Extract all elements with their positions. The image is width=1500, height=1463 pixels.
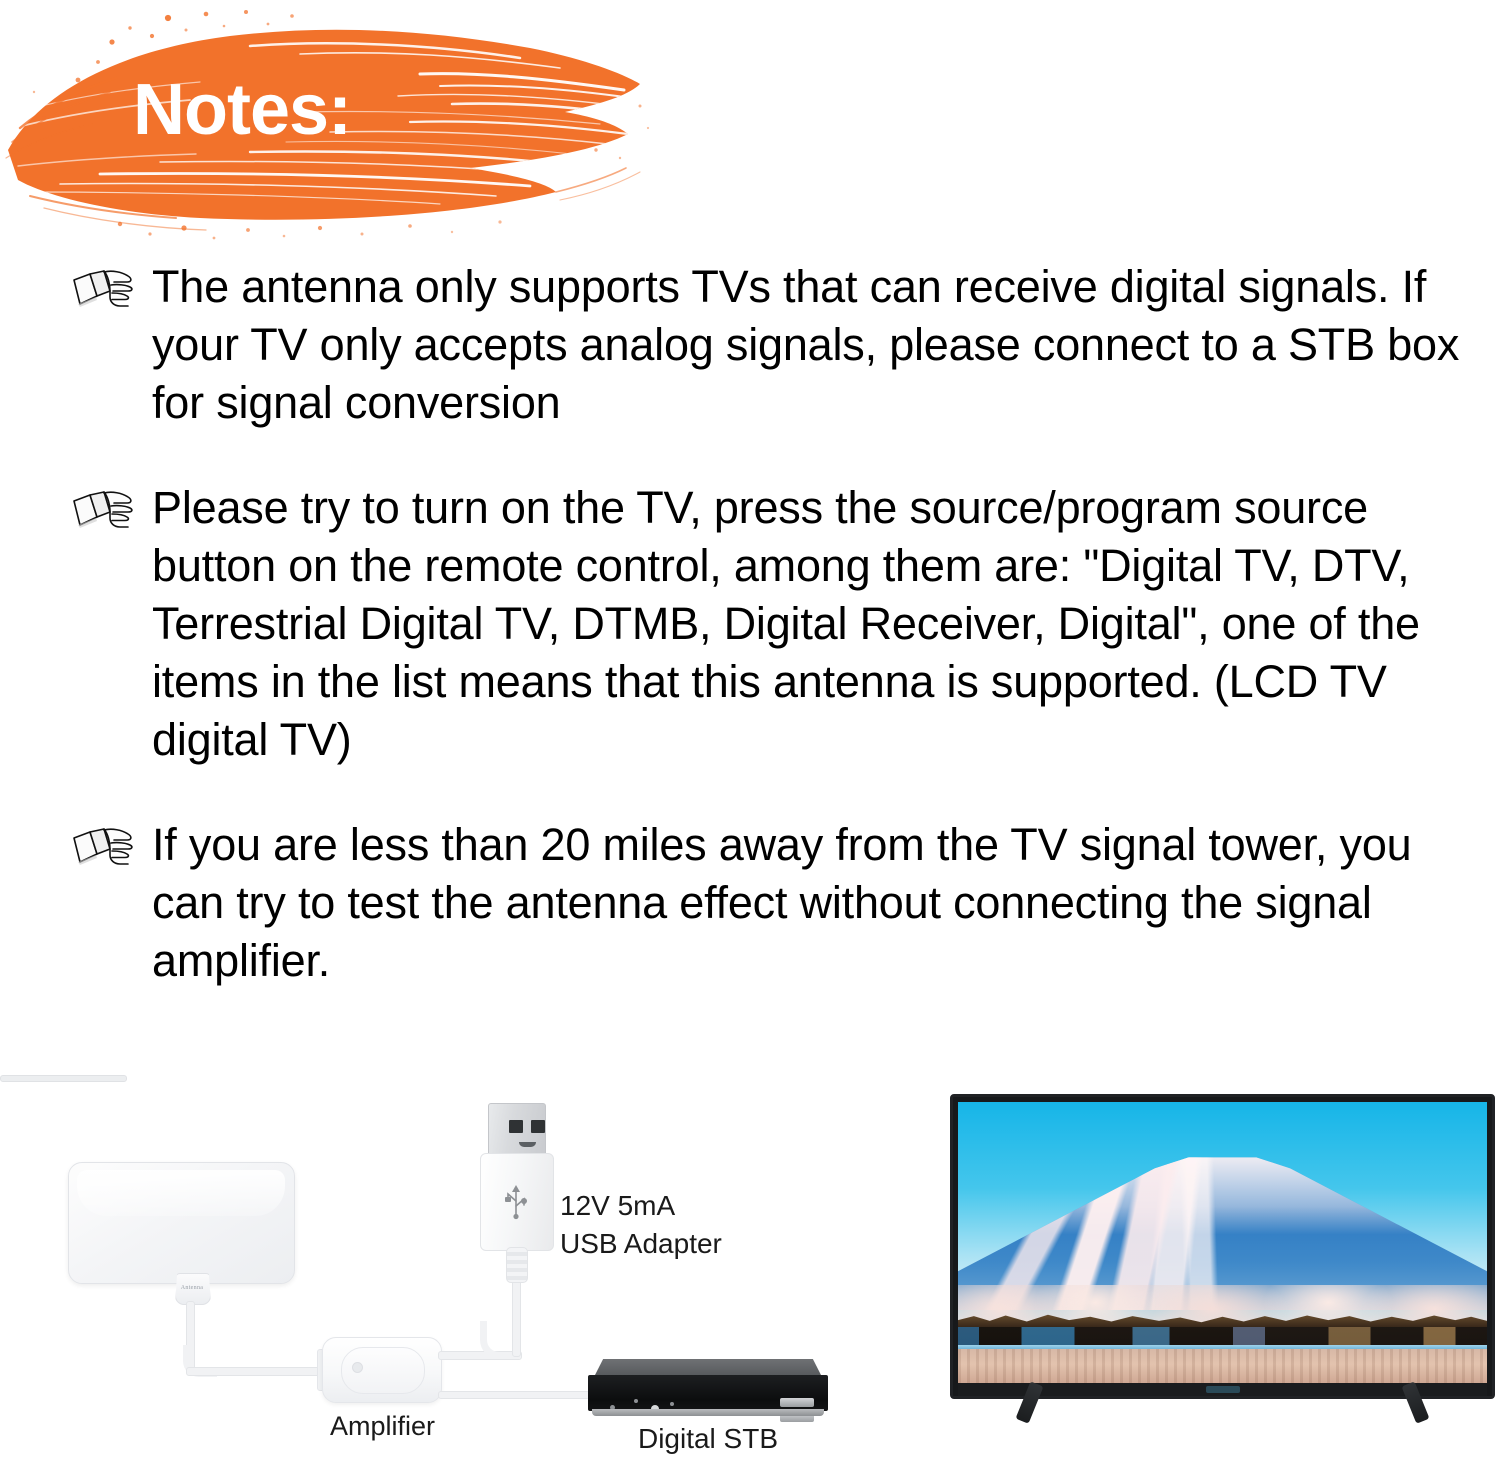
usb-notch — [519, 1142, 536, 1147]
notes-list: The antenna only supports TVs that can r… — [70, 258, 1490, 990]
note-item: The antenna only supports TVs that can r… — [70, 258, 1490, 432]
usb-adapter-label: 12V 5mA USB Adapter — [560, 1187, 722, 1263]
page-title: Notes: — [133, 74, 351, 146]
connection-diagram: Antenna Amplifier — [0, 1075, 1500, 1463]
tv-screen — [958, 1102, 1487, 1383]
antenna-cable-horizontal — [186, 1367, 332, 1376]
antenna-gloss — [77, 1170, 285, 1216]
stb-base — [592, 1409, 824, 1416]
amplifier-label: Amplifier — [310, 1411, 455, 1442]
usb-metal-shell — [488, 1103, 546, 1157]
amplifier-module — [322, 1337, 442, 1403]
television — [950, 1094, 1495, 1424]
antenna-logo-text: Antenna — [178, 1285, 206, 1291]
usb-adapter-label-line2: USB Adapter — [560, 1225, 722, 1263]
digital-stb-box — [588, 1359, 828, 1419]
digital-stb-label: Digital STB — [568, 1423, 848, 1455]
stb-to-tv-cable — [0, 1075, 127, 1082]
town-buildings — [958, 1327, 1487, 1347]
usb-adapter-label-line1: 12V 5mA — [560, 1187, 722, 1225]
pointing-hand-icon — [70, 266, 140, 312]
stb-front-panel — [588, 1375, 828, 1411]
lake-reflection — [958, 1349, 1487, 1383]
usb-contact-slot — [531, 1120, 545, 1133]
stb-button — [780, 1398, 814, 1407]
usb-strain-relief — [506, 1247, 528, 1283]
tv-badge — [1206, 1386, 1240, 1393]
usb-contact-slot — [509, 1120, 523, 1133]
note-item: If you are less than 20 miles away from … — [70, 816, 1490, 990]
stb-cable — [438, 1391, 590, 1399]
amplifier-led-indicator — [352, 1362, 363, 1373]
note-text: If you are less than 20 miles away from … — [152, 816, 1490, 990]
note-item: Please try to turn on the TV, press the … — [70, 479, 1490, 769]
stb-indicator — [634, 1399, 638, 1403]
stb-indicator — [670, 1402, 674, 1406]
pointing-hand-icon — [70, 487, 140, 533]
usb-trident-icon — [502, 1181, 530, 1221]
note-text: Please try to turn on the TV, press the … — [152, 479, 1490, 769]
note-text: The antenna only supports TVs that can r… — [152, 258, 1490, 432]
pointing-hand-icon — [70, 824, 140, 870]
antenna-panel — [68, 1162, 295, 1284]
notes-banner: Notes: — [0, 0, 660, 250]
tv-frame — [950, 1094, 1495, 1399]
